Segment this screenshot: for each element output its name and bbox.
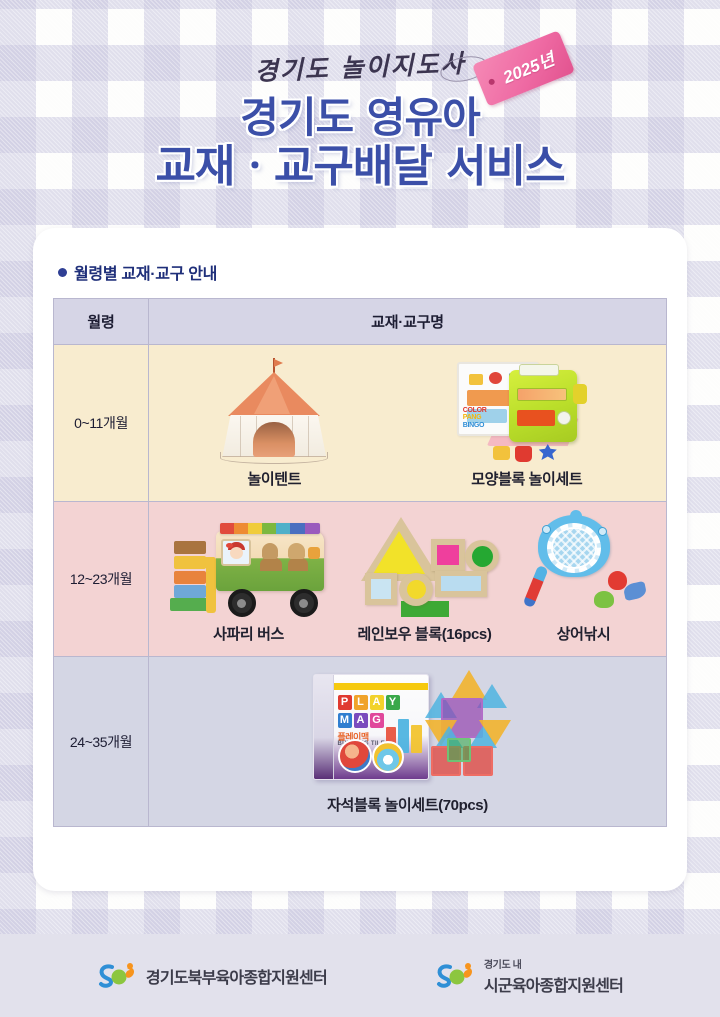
items-row: P L A Y M A G — [149, 660, 666, 824]
items-row: 사파리 버스 — [149, 505, 666, 653]
logo-text-wrap: 경기도북부육아종합지원센터 — [146, 964, 327, 988]
logo-text-wrap: 경기도 내 시군육아종합지원센터 — [484, 956, 623, 996]
logo-name-label: 경기도북부육아종합지원센터 — [146, 964, 327, 988]
red-block-icon — [515, 446, 532, 462]
product-caption: 상어낚시 — [557, 623, 611, 644]
product-item: 상어낚시 — [520, 513, 648, 644]
product-caption: 모양블록 놀이세트 — [471, 468, 582, 489]
shark-fishing-illustration — [520, 513, 648, 617]
content-card: 월령별 교재·교구 안내 월령 교재·교구명 0~11개월 — [33, 228, 687, 891]
page-title-line-1: 경기도 영유아 — [0, 96, 720, 140]
package-photo-build — [372, 741, 404, 773]
product-caption: 사파리 버스 — [213, 623, 284, 644]
bullet-dot-icon — [58, 268, 67, 277]
table-row: 12~23개월 — [54, 502, 667, 657]
column-header-material: 교재·교구명 — [149, 299, 667, 345]
column-header-age: 월령 — [54, 299, 149, 345]
poster-footer: 경기도북부육아종합지원센터 경기도 내 시군육아종합지원센터 — [0, 934, 720, 1017]
driver-face-icon — [228, 542, 245, 561]
section-heading: 월령별 교재·교구 안내 — [58, 260, 667, 284]
product-item: 놀이텐트 — [214, 358, 334, 489]
shape-block-set-illustration: COLOR PANG BINGO — [453, 356, 601, 462]
magnetic-blocks-illustration: P L A Y M A G — [313, 668, 503, 788]
items-row: 놀이텐트 — [149, 348, 666, 498]
bingo-box-label: COLOR PANG BINGO — [463, 407, 487, 429]
table-row: 0~11개월 — [54, 345, 667, 502]
rainbow-blocks-illustration — [355, 513, 495, 617]
age-cell: 0~11개월 — [54, 345, 149, 502]
logo-name-label: 시군육아종합지원센터 — [484, 972, 623, 996]
red-sea-toy-icon — [608, 571, 627, 590]
animal-block-stack — [168, 541, 212, 611]
net-handle — [522, 565, 548, 608]
poster-header: 경기도 놀이지도사 2025년 경기도 영유아 교재ㆍ교구배달 서비스 — [0, 0, 720, 225]
bingo-label-line2: PANG — [463, 414, 482, 421]
age-cell: 24~35개월 — [54, 657, 149, 827]
bingo-label-line3: BINGO — [463, 422, 484, 429]
xylophone-keys — [220, 523, 320, 534]
poster-root: 경기도 놀이지도사 2025년 경기도 영유아 교재ㆍ교구배달 서비스 월령별 … — [0, 0, 720, 1017]
page-title: 경기도 영유아 교재ㆍ교구배달 서비스 — [0, 96, 720, 189]
table-row: 24~35개월 P L — [54, 657, 667, 827]
product-caption: 놀이텐트 — [247, 468, 301, 489]
bingo-label-line1: COLOR — [463, 407, 487, 414]
playmag-package-box: P L A Y M A G — [313, 674, 429, 780]
product-item: P L A Y M A G — [313, 668, 503, 815]
childcare-center-logo-icon — [435, 962, 477, 990]
items-cell: 놀이텐트 — [149, 345, 667, 502]
playmag-title-top: P L A Y — [338, 695, 400, 710]
bingo-machine-toy — [509, 370, 577, 442]
product-caption: 자석블록 놀이세트(70pcs) — [327, 794, 488, 815]
green-sea-toy-icon — [594, 591, 614, 608]
package-photo-child — [338, 739, 372, 773]
product-item: 사파리 버스 — [168, 513, 330, 644]
logo-prefix-label: 경기도 내 — [484, 956, 623, 971]
table-head: 월령 교재·교구명 — [54, 299, 667, 345]
safari-bus-illustration — [168, 513, 330, 617]
shark-net-mouth — [547, 523, 601, 573]
material-table: 월령 교재·교구명 0~11개월 — [53, 298, 667, 827]
play-tent-illustration — [214, 358, 334, 462]
age-cell: 12~23개월 — [54, 502, 149, 657]
blue-block-icon — [539, 444, 557, 460]
items-cell: P L A Y M A G — [149, 657, 667, 827]
childcare-center-logo-icon — [97, 962, 139, 990]
product-item: COLOR PANG BINGO — [453, 356, 601, 489]
product-caption: 레인보우 블록(16pcs) — [358, 623, 492, 644]
magnetic-tiles-build — [421, 668, 503, 786]
logo-gyeonggi-north: 경기도북부육아종합지원센터 — [97, 962, 327, 990]
script-subtitle: 경기도 놀이지도사 — [0, 34, 720, 98]
page-title-line-2: 교재ㆍ교구배달 서비스 — [0, 144, 720, 190]
table-body: 0~11개월 — [54, 345, 667, 827]
giraffe-block-icon — [206, 557, 216, 613]
table-header-row: 월령 교재·교구명 — [54, 299, 667, 345]
section-heading-label: 월령별 교재·교구 안내 — [74, 260, 217, 284]
logo-sigun-center: 경기도 내 시군육아종합지원센터 — [435, 956, 623, 996]
playmag-title-bottom: M A G — [338, 713, 384, 728]
product-item: 레인보우 블록(16pcs) — [355, 513, 495, 644]
yellow-block-icon — [493, 446, 510, 460]
items-cell: 사파리 버스 — [149, 502, 667, 657]
